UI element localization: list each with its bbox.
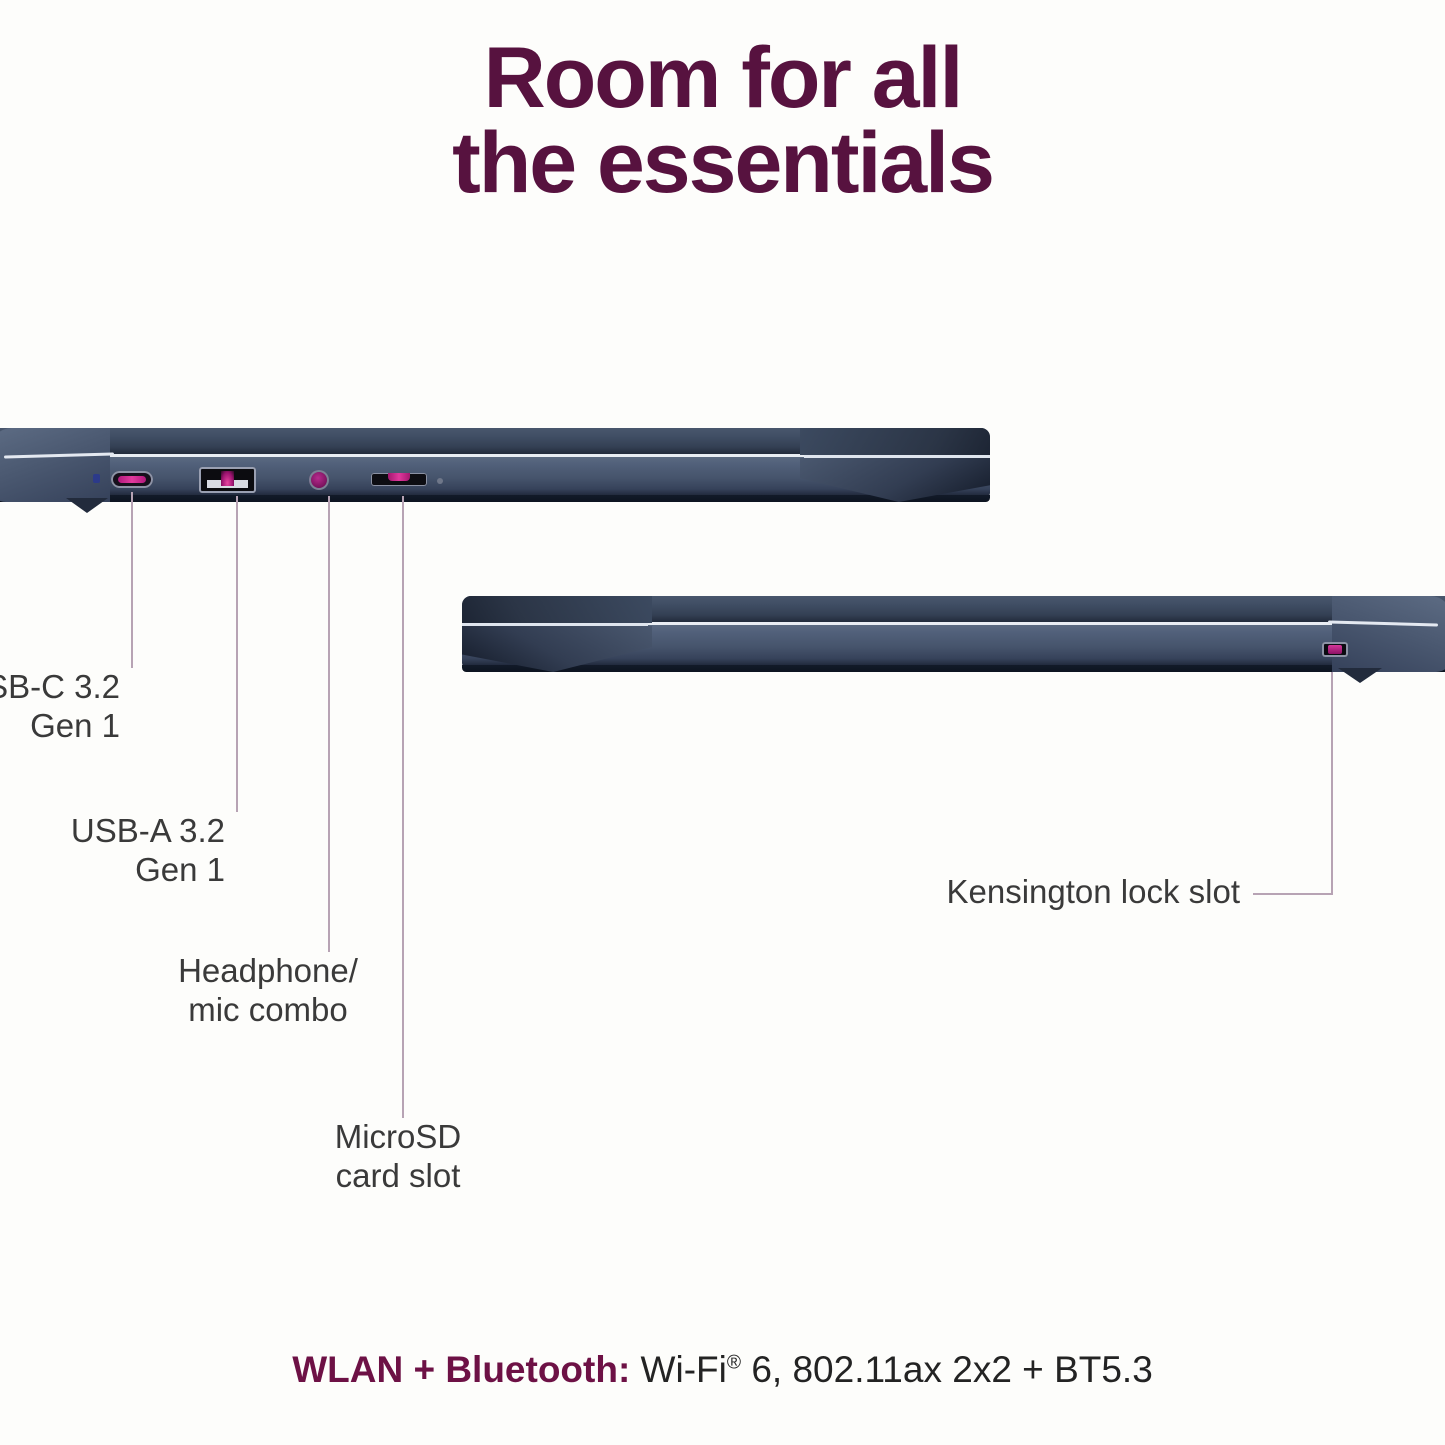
power-led-indicator	[93, 474, 100, 483]
laptop-rounded-end	[1332, 596, 1445, 672]
usb-c-port	[111, 471, 153, 488]
callout-usb-c-line1: USB-C 3.2	[0, 668, 120, 707]
laptop-foot	[1338, 668, 1382, 684]
tail-base	[800, 458, 990, 502]
registered-trademark-symbol: ®	[727, 1353, 741, 1374]
laptop-top-side-view	[0, 424, 990, 520]
callout-usb-c-line2: Gen 1	[0, 707, 120, 746]
laptop-bottom-side-view	[462, 592, 1445, 692]
tail-seam	[804, 455, 990, 458]
tail-lid	[800, 428, 990, 455]
callout-label-microsd: MicroSD card slot	[248, 1118, 548, 1196]
kensington-lock-slot-port	[1322, 642, 1348, 657]
callout-microsd-line1: MicroSD	[248, 1118, 548, 1157]
callout-label-kensington: Kensington lock slot	[870, 873, 1240, 912]
tail-base	[462, 626, 652, 672]
callout-usb-a-line2: Gen 1	[0, 851, 225, 890]
usb-a-port	[199, 467, 256, 493]
leader-line-kensington-vertical	[1331, 672, 1333, 894]
headline-line-2: the essentials	[0, 121, 1445, 206]
callout-microsd-line2: card slot	[248, 1157, 548, 1196]
laptop-tapered-end	[800, 428, 990, 502]
callout-usb-a-line1: USB-A 3.2	[0, 812, 225, 851]
callout-headphone-line1: Headphone/	[108, 952, 428, 991]
callout-kensington-line1: Kensington lock slot	[870, 873, 1240, 912]
microsd-card-slot	[371, 473, 427, 486]
callout-label-headphone: Headphone/ mic combo	[108, 952, 428, 1030]
spec-footer: WLAN + Bluetooth: Wi-Fi® 6, 802.11ax 2x2…	[0, 1349, 1445, 1391]
page-title: Room for all the essentials	[0, 36, 1445, 206]
tail-seam	[462, 623, 648, 626]
marketing-image: Room for all the essentials	[0, 0, 1445, 1445]
leader-line-usb-c	[131, 492, 133, 668]
headphone-jack-port	[309, 470, 329, 490]
callout-label-usb-a: USB-A 3.2 Gen 1	[0, 812, 225, 890]
footer-label: WLAN + Bluetooth:	[292, 1349, 630, 1390]
leader-line-headphone	[328, 496, 330, 952]
laptop-foot	[66, 498, 108, 514]
headline-line-1: Room for all	[484, 30, 962, 126]
footer-value-part1: Wi-Fi	[630, 1349, 727, 1390]
callout-headphone-line2: mic combo	[108, 991, 428, 1030]
tail-lid	[462, 596, 652, 623]
leader-line-usb-a	[236, 496, 238, 812]
footer-value-part2: 6, 802.11ax 2x2 + BT5.3	[741, 1349, 1153, 1390]
laptop-tapered-end	[462, 596, 652, 672]
callout-label-usb-c: USB-C 3.2 Gen 1	[0, 668, 120, 746]
microsd-notch	[437, 478, 443, 484]
leader-line-kensington-horizontal	[1253, 893, 1333, 895]
laptop-rounded-end	[0, 428, 110, 502]
